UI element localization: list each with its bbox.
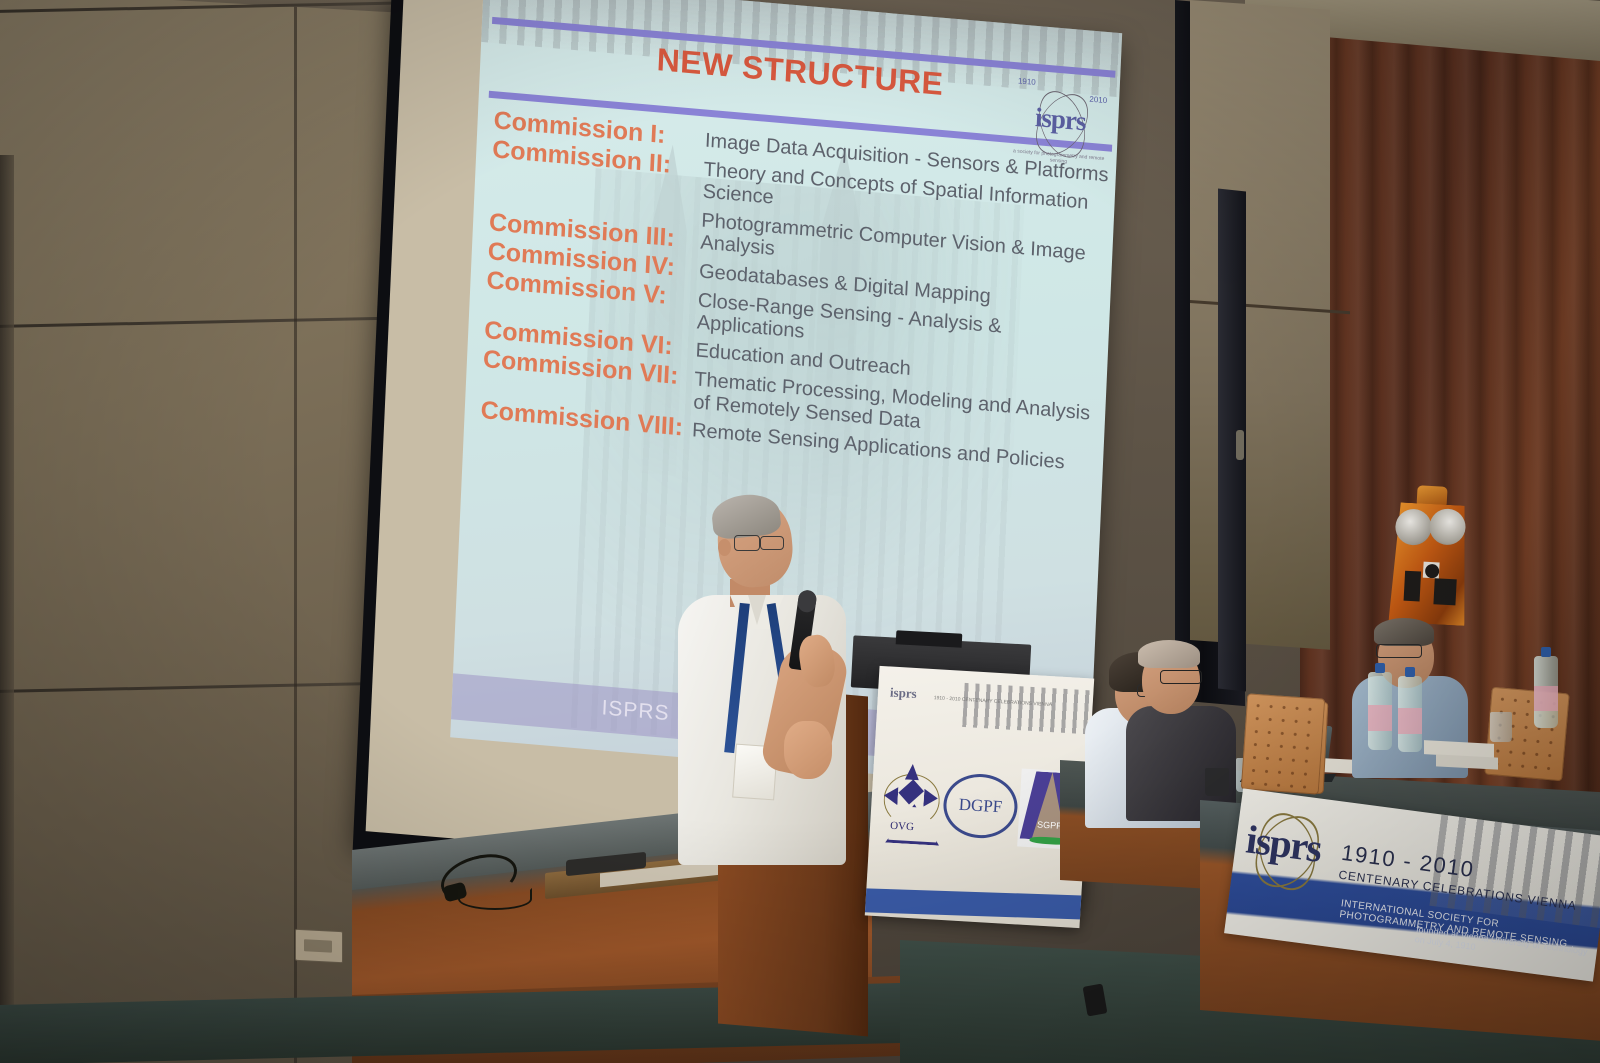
lectern-header-subtitle: 1910 - 2010 CENTENARY CELEBRATIONS VIENN… [934, 695, 1053, 708]
satellite-model [1376, 477, 1484, 632]
wall-shadow [0, 155, 14, 1055]
chair[interactable] [1241, 693, 1326, 794]
logo-year-left: 1910 [1018, 76, 1036, 87]
drinking-glass [1490, 712, 1512, 742]
lectern-header-wordmark: isprs [890, 685, 918, 703]
door-handle[interactable] [1236, 430, 1244, 460]
bottle-label [1398, 708, 1422, 734]
slide-footer-text: ISPRS [601, 696, 670, 726]
bottle-label [1534, 686, 1558, 710]
satellite-instrument [1433, 578, 1456, 605]
speaker-ear [718, 539, 731, 556]
dgpf-logo-icon: DGPF [942, 772, 1020, 840]
panelist-hair [1138, 640, 1200, 668]
water-bottle [1398, 676, 1422, 752]
glasses-icon [1160, 670, 1202, 684]
bottle-label [1368, 705, 1392, 732]
ovg-diamond [905, 764, 920, 781]
lectern-accent-bar [865, 888, 1094, 920]
dgpf-logo-label: DGPF [958, 795, 1003, 818]
wall-seam-vertical [294, 7, 297, 1063]
banner-wordmark: isprs [1244, 815, 1324, 871]
commission-list: Commission I: Image Data Acquisition - S… [480, 107, 1112, 479]
logo-wordmark: isprs [1012, 100, 1109, 139]
conference-photo-scene: NEW STRUCTURE 1910 2010 isprs a society … [0, 0, 1600, 1063]
glasses-icon [734, 535, 786, 549]
wall-seam [0, 316, 423, 328]
water-bottle [1368, 672, 1392, 750]
coffee-cup [1205, 768, 1229, 796]
lectern-header-photo: isprs 1910 - 2010 CENTENARY CELEBRATIONS… [962, 683, 1094, 735]
right-wall-panel [1190, 0, 1330, 650]
panelist-hair [1374, 618, 1434, 646]
speaker-hand [784, 721, 832, 779]
ovg-logo-label: OVG [890, 820, 915, 833]
glasses-icon [1376, 644, 1422, 658]
wall-seam [1190, 300, 1350, 314]
logo-year-right: 2010 [1089, 95, 1107, 106]
ovg-logo-icon: OVG [879, 762, 942, 843]
speaker-hair [710, 492, 782, 541]
water-bottle [1534, 656, 1558, 728]
headphones-icon[interactable] [440, 856, 528, 904]
satellite-instrument [1404, 571, 1422, 602]
wall-socket[interactable] [295, 929, 343, 964]
headphone-cord [458, 888, 532, 910]
speaker-person [672, 495, 852, 865]
